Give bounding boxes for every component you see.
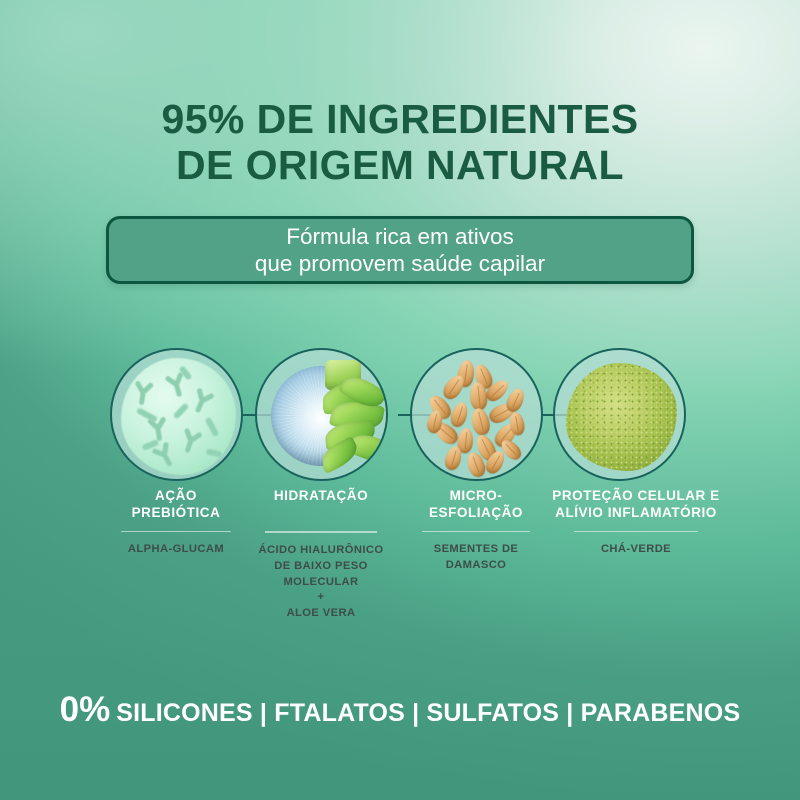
benefit-ingredients: ÁCIDO HIALURÔNICO DE BAIXO PESO MOLECULA… — [240, 543, 402, 623]
benefit-labels-row: AÇÃO PREBIÓTICA ALPHA-GLUCAM HIDRATAÇÃO … — [0, 487, 800, 637]
benefit-ingredients: CHÁ-VERDE — [538, 542, 734, 558]
almond-seeds-icon — [412, 350, 541, 479]
circle-outline — [553, 348, 686, 481]
subtitle-line-2: que promovem saúde capilar — [255, 250, 545, 277]
water-drop-aloe-icon — [257, 350, 386, 479]
benefit-circle-green-tea — [553, 348, 686, 481]
benefit-icon-row — [0, 348, 800, 481]
label-divider — [265, 531, 377, 533]
circle-outline — [255, 348, 388, 481]
subtitle-banner: Fórmula rica em ativos que promovem saúd… — [106, 216, 694, 284]
benefit-label-green-tea: PROTEÇÃO CELULAR E ALÍVIO INFLAMATÓRIO C… — [538, 487, 734, 558]
free-from-claims: 0%SILICONES | FTALATOS | SULFATOS | PARA… — [0, 690, 800, 730]
benefit-label-hydration: HIDRATAÇÃO ÁCIDO HIALURÔNICO DE BAIXO PE… — [240, 487, 402, 622]
subtitle-text: Fórmula rica em ativos que promovem saúd… — [255, 223, 545, 278]
benefits-section — [0, 348, 800, 481]
benefit-circle-exfoliation — [410, 348, 543, 481]
benefit-label-exfoliation: MICRO- ESFOLIAÇÃO SEMENTES DE DAMASCO — [398, 487, 554, 574]
label-divider — [574, 531, 698, 533]
page-title: 95% DE INGREDIENTES DE ORIGEM NATURAL — [0, 96, 800, 189]
benefit-circle-prebiotic — [110, 348, 243, 481]
circle-outline — [110, 348, 243, 481]
prebiotic-microbiome-icon — [112, 350, 241, 479]
green-tea-powder-icon — [555, 350, 684, 479]
headline-line-2: DE ORIGEM NATURAL — [0, 142, 800, 188]
benefit-label-prebiotic: AÇÃO PREBIÓTICA ALPHA-GLUCAM — [96, 487, 256, 558]
circle-outline — [410, 348, 543, 481]
promo-banner: 95% DE INGREDIENTES DE ORIGEM NATURAL Fó… — [0, 0, 800, 800]
headline-line-1: 95% DE INGREDIENTES — [0, 96, 800, 142]
label-divider — [121, 531, 231, 533]
zero-percent-label: 0% — [60, 690, 111, 729]
benefit-title: AÇÃO PREBIÓTICA — [96, 487, 256, 522]
benefit-title: HIDRATAÇÃO — [240, 487, 402, 504]
benefit-circle-hydration — [255, 348, 388, 481]
benefit-title: PROTEÇÃO CELULAR E ALÍVIO INFLAMATÓRIO — [538, 487, 734, 522]
label-divider — [422, 531, 530, 533]
benefit-ingredients: ALPHA-GLUCAM — [96, 542, 256, 558]
free-from-list: SILICONES | FTALATOS | SULFATOS | PARABE… — [116, 699, 740, 727]
benefit-title: MICRO- ESFOLIAÇÃO — [398, 487, 554, 522]
benefit-ingredients: SEMENTES DE DAMASCO — [398, 542, 554, 574]
subtitle-line-1: Fórmula rica em ativos — [255, 223, 545, 250]
